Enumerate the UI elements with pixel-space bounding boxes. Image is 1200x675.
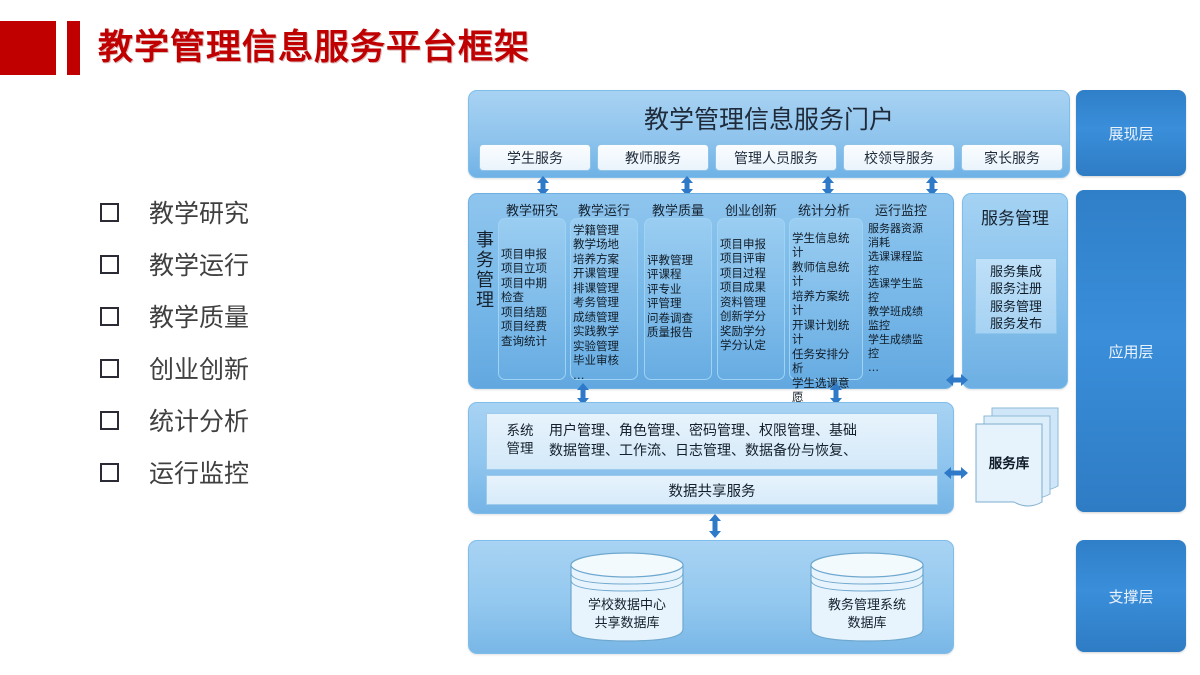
layer-pillar-presentation: 展现层: [1076, 90, 1186, 176]
portal-chip-admin[interactable]: 管理人员服务: [715, 144, 837, 171]
architecture-diagram: 展现层 应用层 支撑层 教学管理信息服务门户 学生服务 教师服务 管理人员服务 …: [0, 0, 1200, 675]
portal-panel: 教学管理信息服务门户 学生服务 教师服务 管理人员服务 校领导服务 家长服务: [468, 90, 1070, 178]
portal-title: 教学管理信息服务门户: [469, 100, 1069, 136]
arrow-system-to-support: [707, 514, 723, 538]
service-management-box[interactable]: 服务集成 服务注册 服务管理 服务发布: [975, 258, 1057, 334]
column-head-teaching-quality: 教学质量: [643, 200, 713, 219]
layer-pillar-support: 支撑层: [1076, 540, 1186, 652]
column-head-entrepreneurship: 创业创新: [716, 200, 786, 219]
column-box-teaching-operation[interactable]: 学籍管理 教学场地 培养方案 开课管理 排课管理 考务管理 成绩管理 实践教学 …: [570, 218, 638, 380]
support-panel: 学校数据中心 共享数据库 教务管理系统 数据库: [468, 540, 954, 654]
affairs-management-label: 事务管理: [474, 231, 496, 312]
column-box-monitoring[interactable]: 服务器资源 消耗 选课课程监 控 选课学生监 控 教学班成绩 监控 学生成绩监 …: [866, 210, 938, 380]
layer-pillar-application: 应用层: [1076, 190, 1186, 512]
column-items-teaching-operation: 学籍管理 教学场地 培养方案 开课管理 排课管理 考务管理 成绩管理 实践教学 …: [571, 223, 637, 382]
service-management-title: 服务管理: [963, 204, 1067, 229]
arrow-app-to-service-management: [946, 372, 968, 388]
column-box-statistics[interactable]: 学生信息统计 教师信息统计 培养方案统计 开课计划统计 任务安排分析 学生选课意…: [789, 218, 863, 380]
service-library-label: 服务库: [976, 452, 1042, 472]
column-head-teaching-operation: 教学运行: [569, 200, 639, 219]
system-management-panel: 系统 管理 用户管理、角色管理、密码管理、权限管理、基础 数据管理、工作流、日志…: [468, 402, 954, 514]
portal-chip-teacher[interactable]: 教师服务: [597, 144, 709, 171]
column-box-teaching-quality[interactable]: 评教管理 评课程 评专业 评管理 问卷调查 质量报告: [644, 218, 712, 380]
column-items-teaching-quality: 评教管理 评课程 评专业 评管理 问卷调查 质量报告: [645, 253, 711, 340]
system-management-text: 用户管理、角色管理、密码管理、权限管理、基础 数据管理、工作流、日志管理、数据备…: [549, 422, 927, 462]
column-items-teaching-research: 项目申报 项目立项 项目中期 检查 项目结题 项目经费 查询统计: [499, 247, 565, 348]
service-library[interactable]: 服务库: [962, 400, 1066, 512]
portal-chip-leader[interactable]: 校领导服务: [843, 144, 955, 171]
database-label-academic: 教务管理系统 数据库: [809, 597, 925, 632]
database-label-school: 学校数据中心 共享数据库: [569, 597, 685, 632]
service-management-panel: 服务管理 服务集成 服务注册 服务管理 服务发布: [962, 193, 1068, 389]
column-box-entrepreneurship[interactable]: 项目申报 项目评审 项目过程 项目成果 资料管理 创新学分 奖励学分 学分认定: [717, 218, 785, 380]
column-box-teaching-research[interactable]: 项目申报 项目立项 项目中期 检查 项目结题 项目经费 查询统计: [498, 218, 566, 380]
portal-chip-parent[interactable]: 家长服务: [961, 144, 1063, 171]
data-sharing-service-bar[interactable]: 数据共享服务: [486, 475, 938, 505]
system-management-inner: 系统 管理 用户管理、角色管理、密码管理、权限管理、基础 数据管理、工作流、日志…: [486, 413, 938, 470]
column-head-statistics: 统计分析: [789, 200, 859, 219]
service-management-items: 服务集成 服务注册 服务管理 服务发布: [976, 264, 1056, 333]
column-head-teaching-research: 教学研究: [497, 200, 567, 219]
system-management-label: 系统 管理: [497, 423, 543, 459]
portal-chip-student[interactable]: 学生服务: [479, 144, 591, 171]
column-items-monitoring: 服务器资源 消耗 选课课程监 控 选课学生监 控 教学班成绩 监控 学生成绩监 …: [866, 222, 938, 374]
column-items-entrepreneurship: 项目申报 项目评审 项目过程 项目成果 资料管理 创新学分 奖励学分 学分认定: [718, 237, 784, 353]
